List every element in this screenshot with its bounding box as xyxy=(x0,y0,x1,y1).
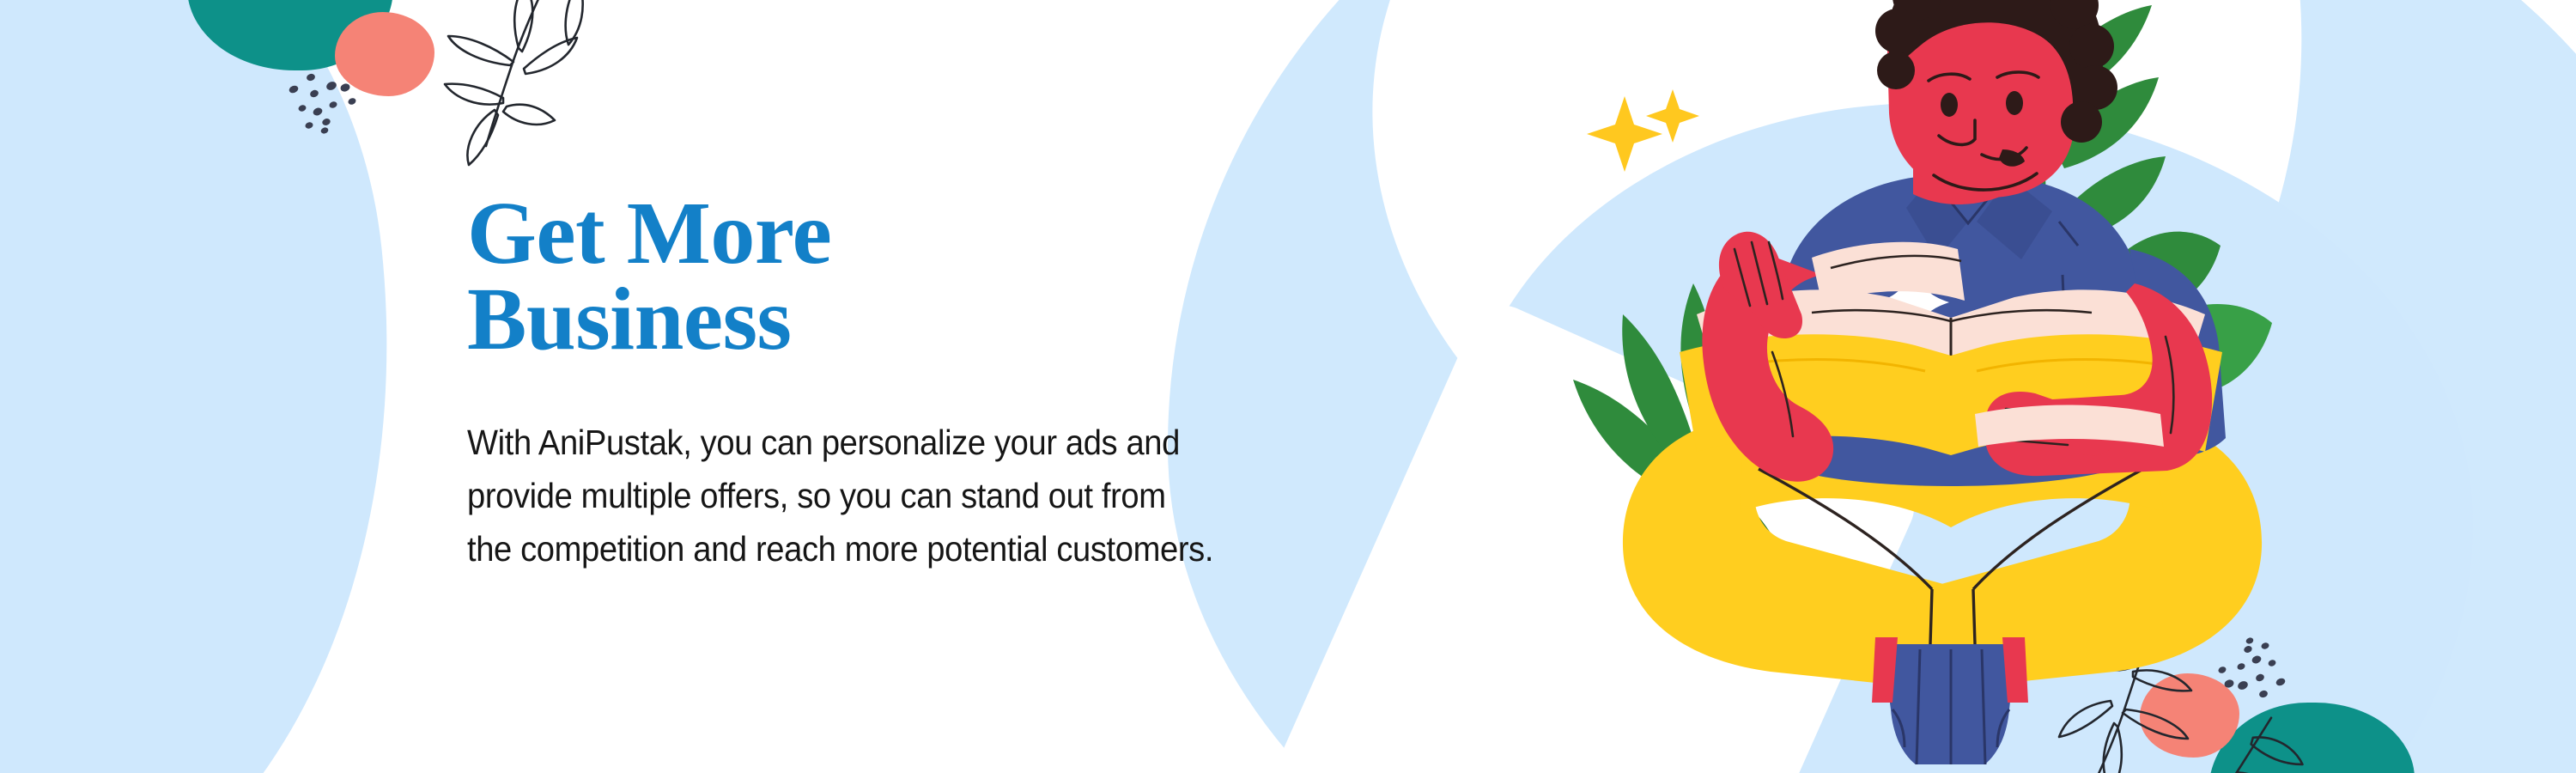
yellow-sparkle-group xyxy=(1587,89,1699,172)
head xyxy=(1875,0,2117,204)
copy-block: Get More Business With AniPustak, you ca… xyxy=(467,191,1515,576)
shoes xyxy=(1872,637,2028,773)
headline: Get More Business xyxy=(467,191,1515,362)
leaf-branch-icon-top-left xyxy=(429,0,610,167)
illustration-person-reading-book xyxy=(1528,0,2387,773)
promo-banner: Get More Business With AniPustak, you ca… xyxy=(0,0,2576,773)
body-text: With AniPustak, you can personalize your… xyxy=(467,362,1442,576)
dot-cluster-top-left xyxy=(283,52,378,142)
